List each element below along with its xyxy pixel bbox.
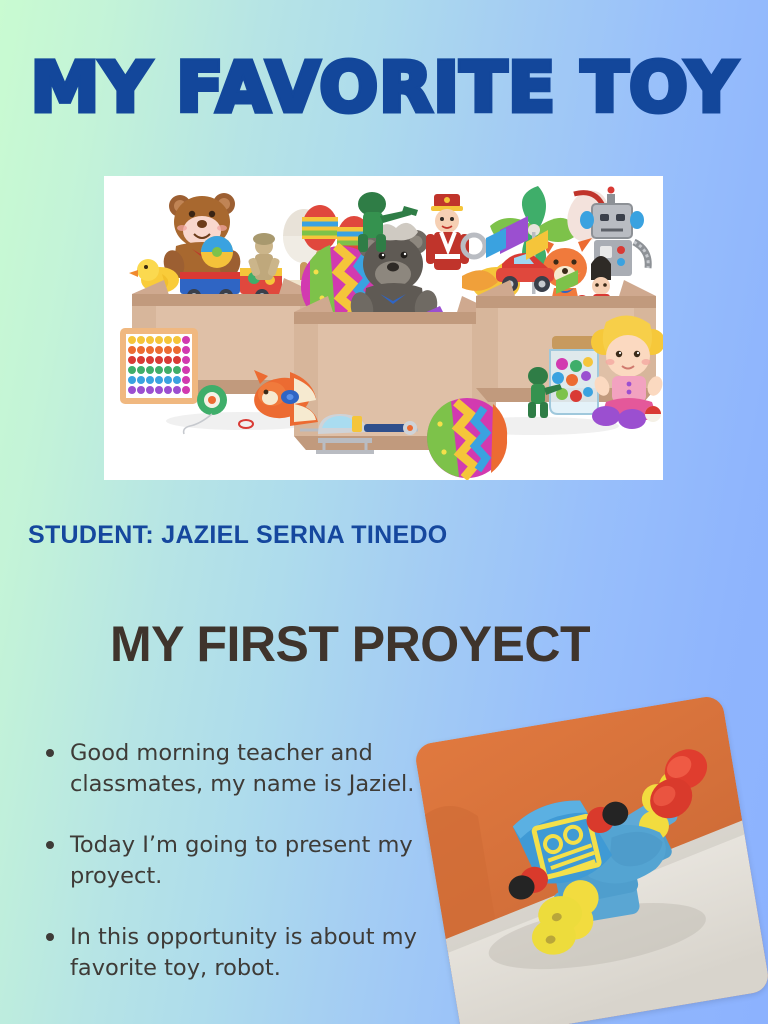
student-name-label: STUDENT: JAZIEL SERNA TINEDO (28, 521, 448, 550)
list-item: Good morning teacher and classmates, my … (44, 738, 434, 800)
presentation-bullet-list: Good morning teacher and classmates, my … (44, 738, 434, 984)
list-item: Today I’m going to present my proyect. (44, 830, 434, 892)
list-item-text: Today I’m going to present my proyect. (70, 832, 413, 889)
list-item-text: Good morning teacher and classmates, my … (70, 740, 414, 797)
page-title: MY FAVORITE TOY (0, 52, 768, 124)
section-heading: MY FIRST PROYECT (0, 615, 700, 673)
bullet-dot-icon (46, 841, 54, 849)
list-item: In this opportunity is about my favorite… (44, 922, 434, 984)
toy-boxes-illustration (104, 176, 663, 480)
bullet-dot-icon (46, 933, 54, 941)
list-item-text: In this opportunity is about my favorite… (70, 924, 417, 981)
slide-canvas: MY FAVORITE TOY (0, 0, 768, 1024)
bullet-dot-icon (46, 749, 54, 757)
wooden-toy-robot-photo (413, 694, 768, 1024)
